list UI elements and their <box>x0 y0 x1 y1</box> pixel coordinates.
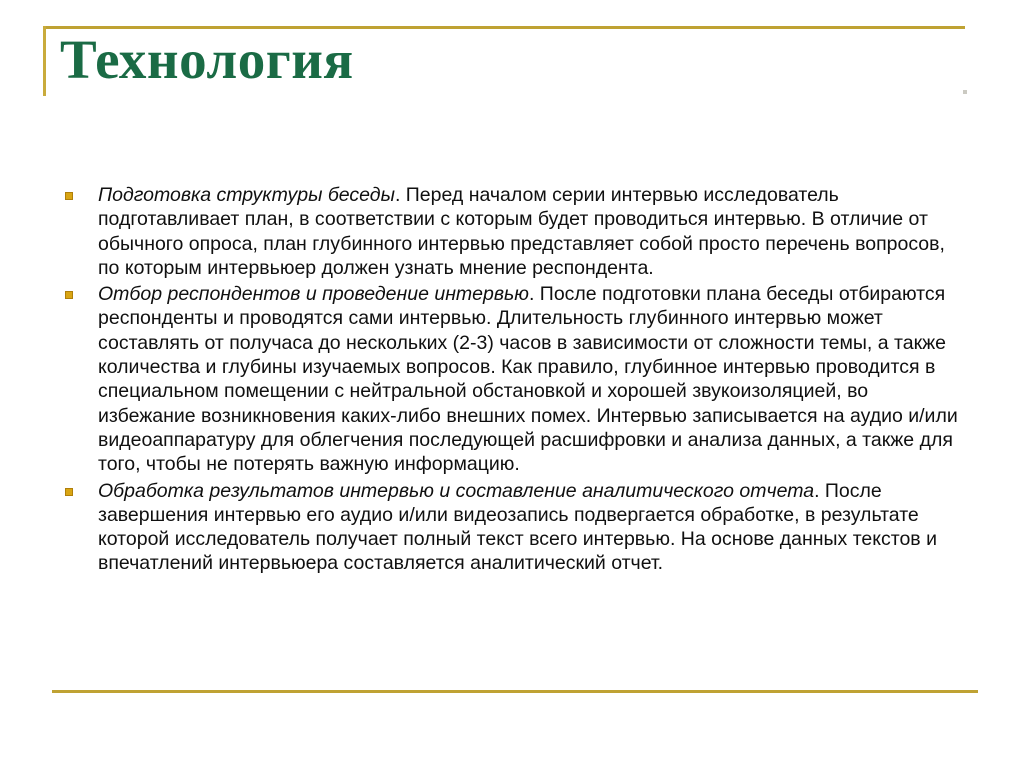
slide-title: Технология <box>60 29 354 91</box>
square-bullet-icon <box>65 488 73 496</box>
list-item-lead: Подготовка структуры беседы <box>98 184 395 206</box>
list-item: Отбор респондентов и проведение интервью… <box>60 282 960 476</box>
list-item: Подготовка структуры беседы. Перед начал… <box>60 183 960 280</box>
square-bullet-icon <box>65 291 73 299</box>
square-bullet-icon <box>65 192 73 200</box>
list-item-lead: Обработка результатов интервью и составл… <box>98 480 814 502</box>
list-item-body: . После подготовки плана беседы отбирают… <box>98 283 958 475</box>
list-item-text: Отбор респондентов и проведение интервью… <box>98 282 960 476</box>
left-accent-rule <box>43 26 46 96</box>
list-item-text: Подготовка структуры беседы. Перед начал… <box>98 183 960 280</box>
slide-canvas: Технология Подготовка структуры беседы. … <box>0 0 1024 768</box>
list-item-lead: Отбор респондентов и проведение интервью <box>98 283 529 305</box>
bullet-list: Подготовка структуры беседы. Перед начал… <box>60 183 960 578</box>
bottom-accent-rule <box>52 690 978 693</box>
list-item: Обработка результатов интервью и составл… <box>60 479 960 576</box>
corner-dot-marker <box>963 90 967 94</box>
list-item-text: Обработка результатов интервью и составл… <box>98 479 960 576</box>
